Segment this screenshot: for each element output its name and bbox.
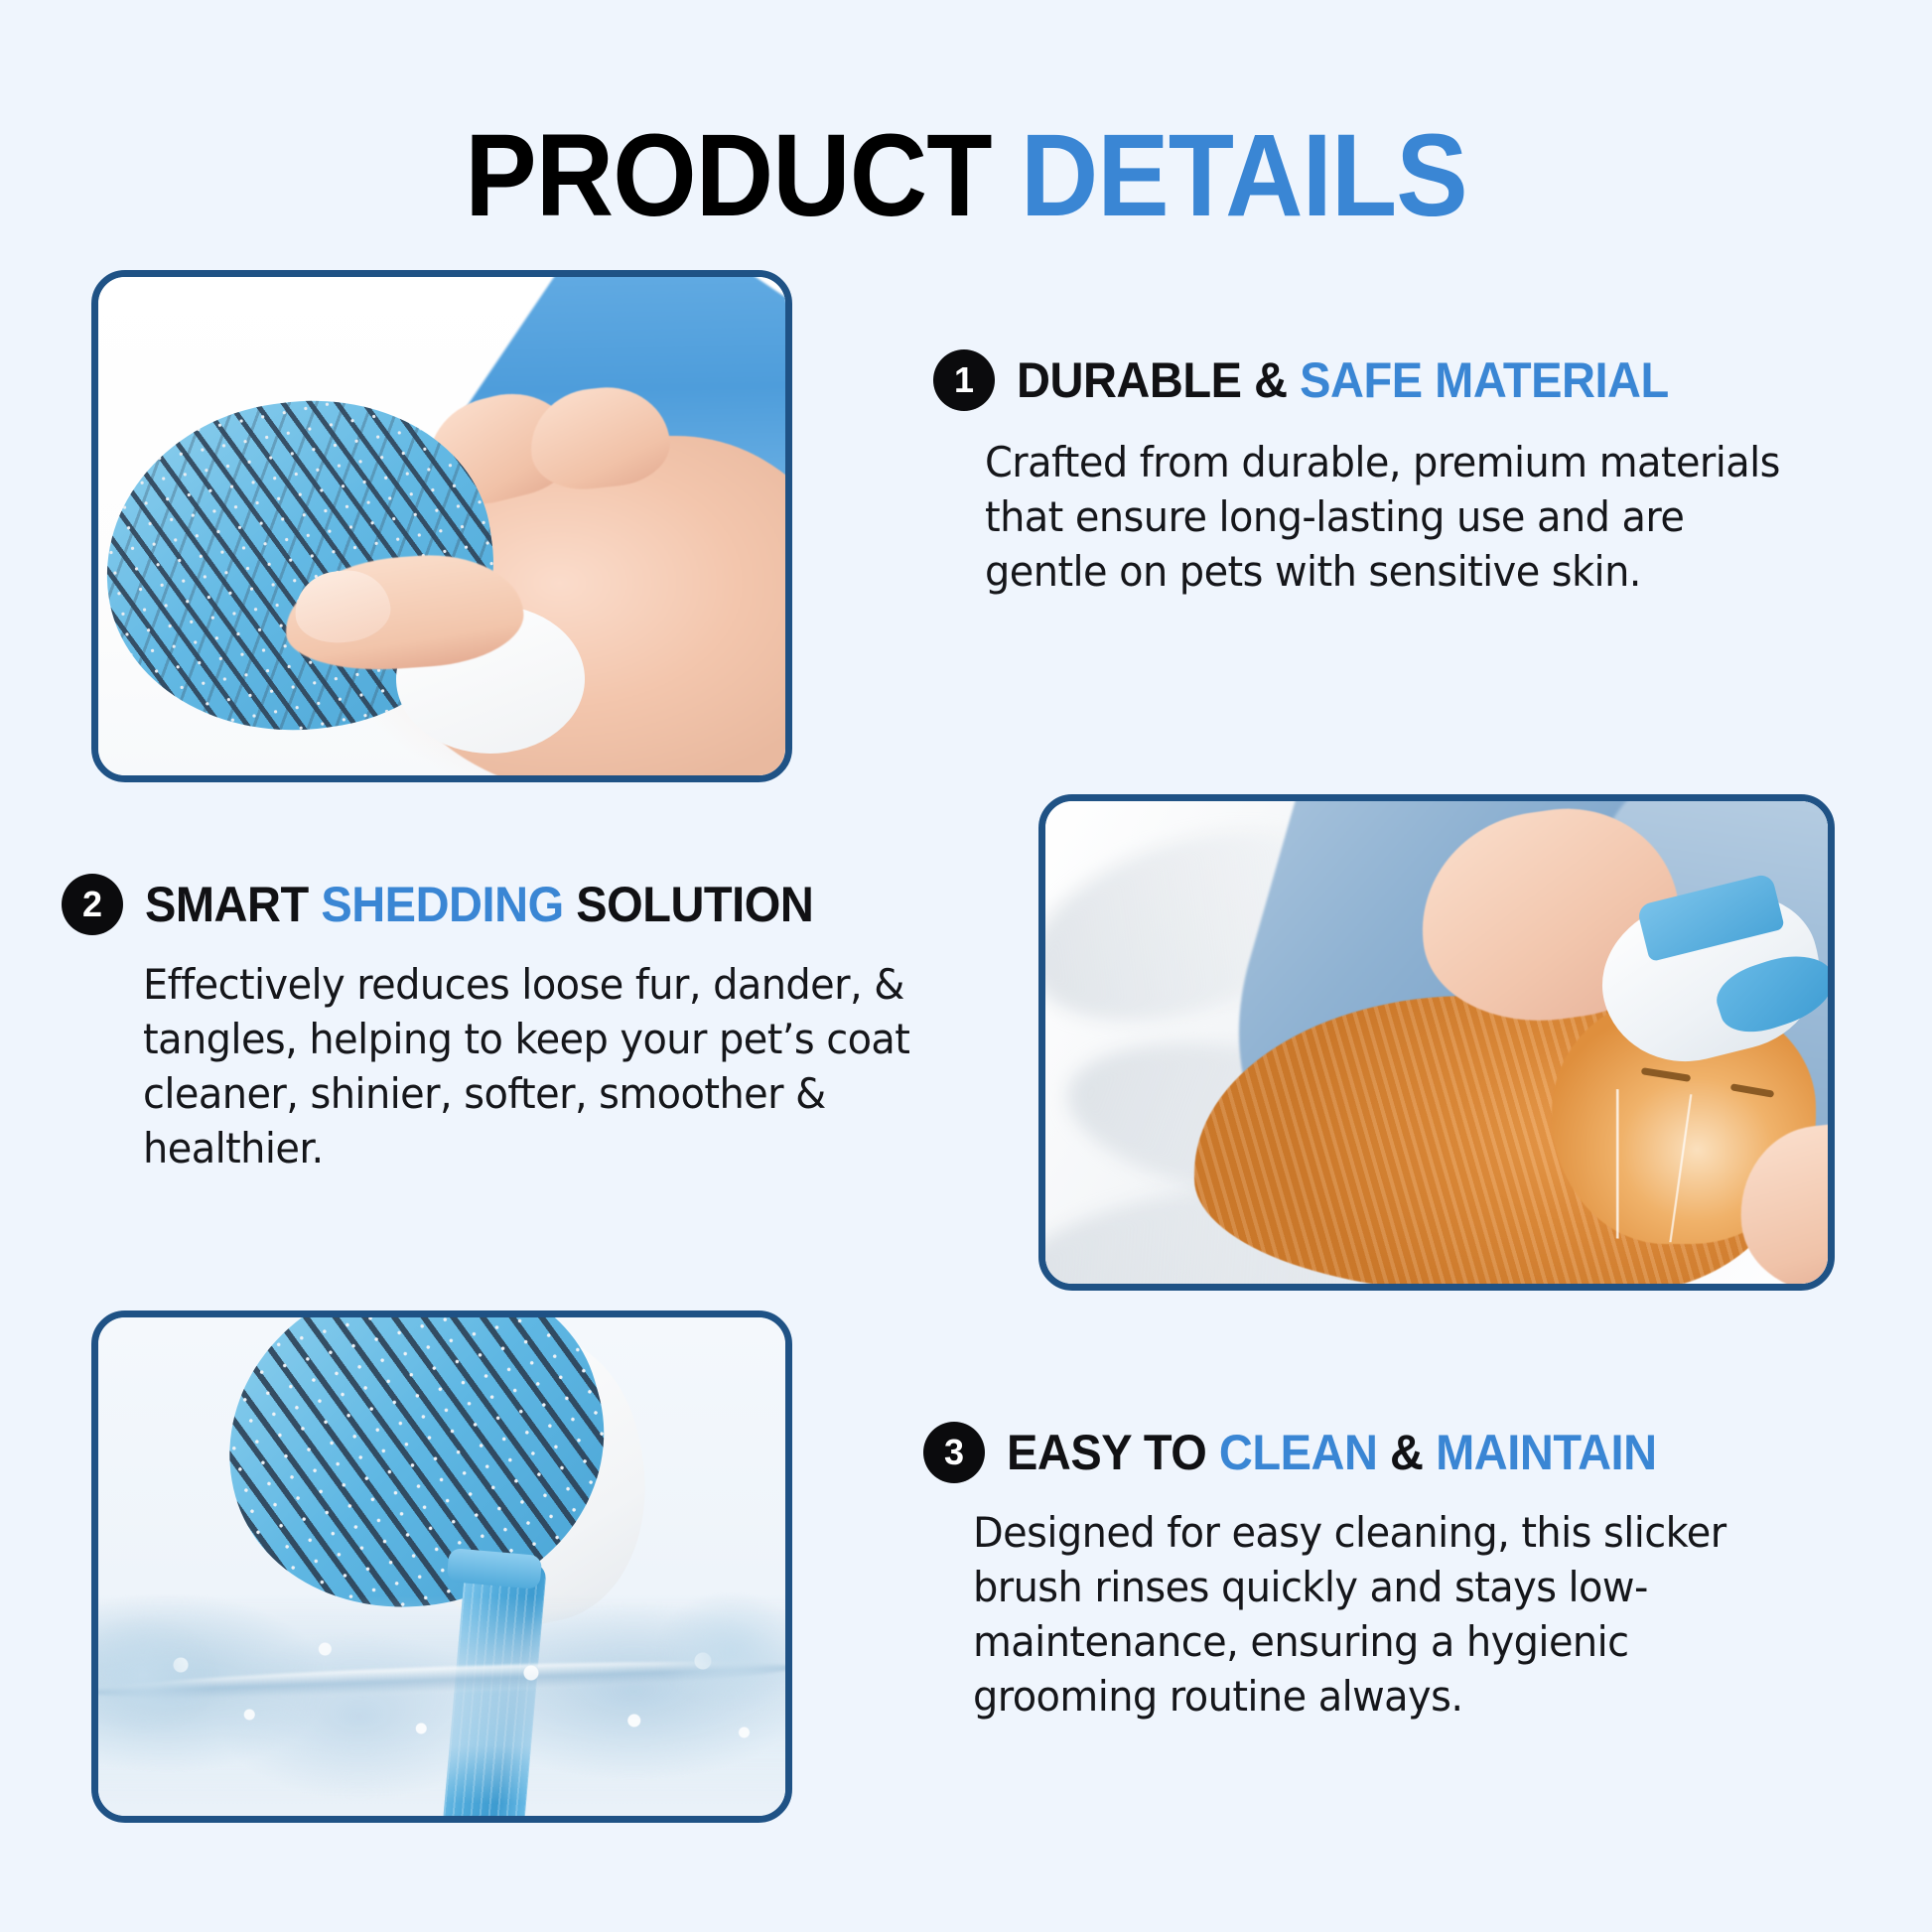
feature-3-heading-black-1: EASY TO bbox=[1007, 1425, 1219, 1480]
product-details-infographic: PRODUCT DETAILS 1 DURABLE & SAFE MATERIA… bbox=[0, 0, 1932, 1932]
feature-2-heading-black-1: SMART bbox=[145, 877, 321, 932]
feature-3-heading-blue-2: MAINTAIN bbox=[1436, 1425, 1657, 1480]
feature-3-heading-blue-1: CLEAN bbox=[1219, 1425, 1378, 1480]
feature-1-heading-row: 1 DURABLE & SAFE MATERIAL bbox=[933, 349, 1857, 411]
feature-2-heading-black-2: SOLUTION bbox=[564, 877, 814, 932]
cat-grooming-photo bbox=[1045, 801, 1828, 1284]
page-title-black: PRODUCT bbox=[465, 110, 1021, 241]
feature-3-heading-row: 3 EASY TO CLEAN & MAINTAIN bbox=[923, 1422, 1876, 1483]
feature-2-number-badge: 2 bbox=[62, 874, 123, 935]
feature-2-image-card bbox=[1038, 794, 1835, 1291]
page-title-blue: DETAILS bbox=[1021, 110, 1467, 241]
feature-1-image-card bbox=[91, 270, 792, 782]
feature-2-body: Effectively reduces loose fur, dander, &… bbox=[143, 957, 973, 1175]
feature-1-heading: DURABLE & SAFE MATERIAL bbox=[1017, 355, 1669, 405]
feature-2-heading-blue: SHEDDING bbox=[321, 877, 563, 932]
feature-3-heading-black-2: & bbox=[1377, 1425, 1436, 1480]
feature-1-heading-black: DURABLE & bbox=[1017, 352, 1300, 408]
feature-3-image-card bbox=[91, 1311, 792, 1823]
feature-3: 3 EASY TO CLEAN & MAINTAIN Designed for … bbox=[923, 1422, 1876, 1724]
feature-3-number-badge: 3 bbox=[923, 1422, 985, 1483]
feature-1-number-badge: 1 bbox=[933, 349, 995, 411]
feature-3-body: Designed for easy cleaning, this slicker… bbox=[973, 1505, 1822, 1724]
feature-2: 2 SMART SHEDDING SOLUTION Effectively re… bbox=[62, 874, 1015, 1175]
feature-2-heading: SMART SHEDDING SOLUTION bbox=[145, 880, 813, 929]
feature-1-heading-blue: SAFE MATERIAL bbox=[1300, 352, 1669, 408]
water-splash-right bbox=[656, 1591, 792, 1711]
page-title: PRODUCT DETAILS bbox=[77, 117, 1855, 234]
feature-1: 1 DURABLE & SAFE MATERIAL Crafted from d… bbox=[933, 349, 1857, 599]
hand-holding-brush-photo bbox=[98, 277, 785, 775]
brush-water-splash-photo bbox=[98, 1317, 785, 1816]
feature-1-body: Crafted from durable, premium materials … bbox=[985, 435, 1815, 599]
feature-3-heading: EASY TO CLEAN & MAINTAIN bbox=[1007, 1428, 1657, 1477]
feature-2-heading-row: 2 SMART SHEDDING SOLUTION bbox=[62, 874, 1015, 935]
